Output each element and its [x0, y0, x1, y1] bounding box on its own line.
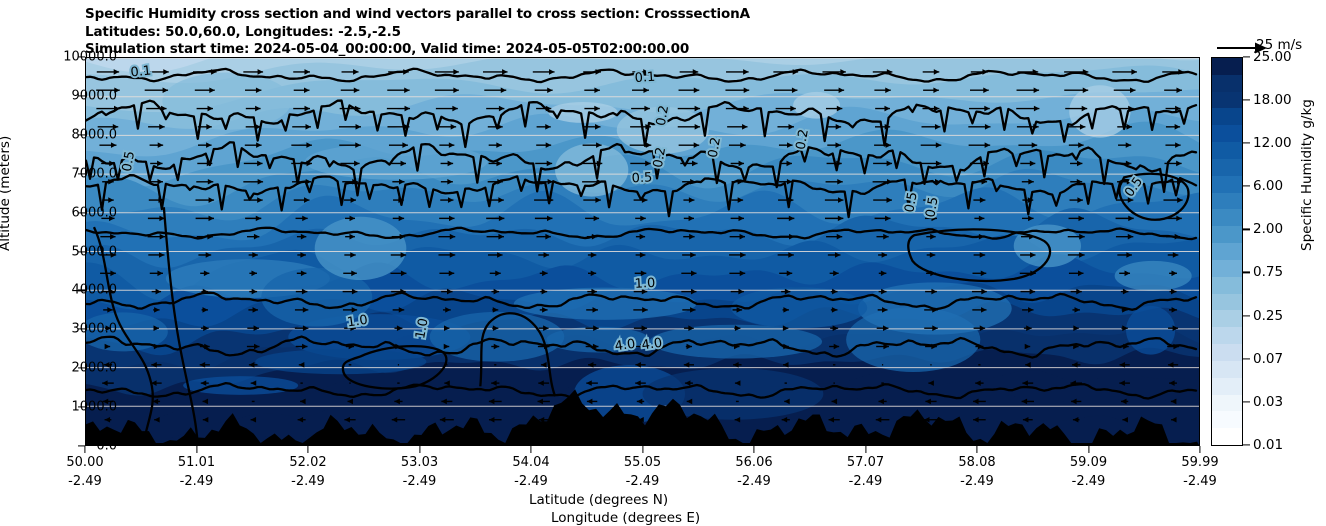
humidity-fill-patch	[514, 288, 697, 320]
y-axis-tick-mark	[78, 134, 85, 135]
colorbar-tick-label: 0.75	[1253, 264, 1283, 280]
humidity-fill-patch	[555, 143, 628, 196]
x-axis-tick-label-latitude: 57.07	[847, 455, 884, 470]
y-axis-tick-label: 0.0	[96, 439, 117, 454]
colorbar-tick-label: 0.03	[1253, 394, 1283, 410]
x-axis-tick-label-longitude: -2.49	[291, 474, 325, 489]
colorbar-tick-mark	[1243, 142, 1250, 143]
x-axis-tick-mark	[976, 446, 977, 453]
chart-title-block: Specific Humidity cross section and wind…	[85, 6, 1205, 59]
y-axis-tick-mark	[78, 173, 85, 174]
colorbar-band	[1212, 377, 1242, 394]
svg-text:4.0: 4.0	[614, 337, 637, 355]
colorbar-tick-label: 18.00	[1253, 92, 1292, 108]
x-axis-tick-label-latitude: 59.99	[1181, 455, 1218, 470]
colorbar-band	[1212, 108, 1242, 125]
x-axis-tick-label-latitude: 53.03	[401, 455, 438, 470]
colorbar-tick-mark	[1243, 358, 1250, 359]
x-axis-tick-mark	[530, 446, 531, 453]
colorbar-band	[1212, 343, 1242, 360]
y-axis-tick-mark	[78, 95, 85, 96]
colorbar-band	[1212, 243, 1242, 260]
x-axis-tick-mark	[307, 446, 308, 453]
x-axis-tick-label-latitude: 56.06	[735, 455, 772, 470]
colorbar-band	[1212, 310, 1242, 327]
plot-canvas: 0.10.10.10.10.20.20.20.20.20.20.20.20.50…	[86, 58, 1199, 445]
colorbar-band	[1212, 175, 1242, 192]
contour-label: 4.04.0	[614, 337, 637, 355]
y-axis-tick-label: 10000.0	[63, 50, 117, 65]
colorbar-tick-mark	[1243, 229, 1250, 230]
y-axis-tick-mark	[78, 368, 85, 369]
humidity-fill-patch	[1126, 306, 1175, 355]
colorbar-tick-mark	[1243, 99, 1250, 100]
title-line-2: Latitudes: 50.0,60.0, Longitudes: -2.5,-…	[85, 24, 1205, 42]
x-axis-tick-label-longitude: -2.49	[1072, 474, 1106, 489]
x-axis-tick-mark	[196, 446, 197, 453]
x-axis-tick-label-latitude: 55.05	[624, 455, 661, 470]
x-axis-tick-label-longitude: -2.49	[68, 474, 102, 489]
y-axis-tick-mark	[78, 329, 85, 330]
colorbar-band	[1212, 192, 1242, 209]
colorbar-tick-label: 0.25	[1253, 308, 1283, 324]
contour-label: 4.04.0	[641, 336, 664, 354]
colorbar-tick-label: 0.01	[1253, 437, 1283, 453]
colorbar-band	[1212, 158, 1242, 175]
x-axis-tick-label-latitude: 59.09	[1070, 455, 1107, 470]
cross-section-plot: 0.10.10.10.10.20.20.20.20.20.20.20.20.50…	[85, 57, 1200, 446]
x-axis-tick-label-latitude: 52.02	[289, 455, 326, 470]
humidity-fill-patch	[1115, 261, 1192, 291]
colorbar-band	[1212, 293, 1242, 310]
y-axis-tick-mark	[78, 56, 85, 57]
title-line-3: Simulation start time: 2024-05-04_00:00:…	[85, 41, 1205, 59]
x-axis-tick-label-longitude: -2.49	[737, 474, 771, 489]
colorbar	[1211, 57, 1243, 446]
contour-label: 0.10.1	[130, 63, 152, 80]
colorbar-tick-label: 6.00	[1253, 178, 1283, 194]
x-axis-label-latitude: Latitude (degrees N)	[529, 492, 668, 508]
x-axis-tick-label-latitude: 58.08	[958, 455, 995, 470]
humidity-fill-patch	[255, 349, 426, 374]
x-axis-tick-label-longitude: -2.49	[849, 474, 883, 489]
contour-label: 1.01.0	[346, 313, 369, 331]
colorbar-band	[1212, 142, 1242, 159]
colorbar-band	[1212, 74, 1242, 91]
colorbar-title: Specific Humidity g/kg	[1299, 99, 1315, 251]
colorbar-tick-label: 2.00	[1253, 221, 1283, 237]
x-axis-tick-label-longitude: -2.49	[514, 474, 548, 489]
x-axis-tick-label-latitude: 51.01	[178, 455, 215, 470]
x-axis-tick-label-longitude: -2.49	[403, 474, 437, 489]
colorbar-tick-mark	[1243, 272, 1250, 273]
contour-label: 1.01.0	[634, 276, 655, 292]
colorbar-band	[1212, 91, 1242, 108]
svg-text:0.1: 0.1	[634, 70, 656, 86]
title-line-1: Specific Humidity cross section and wind…	[85, 6, 1205, 24]
x-axis-tick-label-latitude: 54.04	[512, 455, 549, 470]
colorbar-band	[1212, 125, 1242, 142]
colorbar-tick-mark	[1243, 315, 1250, 316]
x-axis-tick-mark	[642, 446, 643, 453]
y-axis-tick-mark	[78, 251, 85, 252]
colorbar-band	[1212, 411, 1242, 428]
colorbar-tick-mark	[1243, 444, 1250, 445]
colorbar-tick-mark	[1243, 186, 1250, 187]
svg-text:0.5: 0.5	[631, 170, 652, 186]
humidity-fill-patch	[315, 217, 407, 280]
x-axis-tick-label-longitude: -2.49	[180, 474, 214, 489]
x-axis-tick-label-latitude: 50.00	[66, 455, 103, 470]
x-axis-tick-mark	[419, 446, 420, 453]
humidity-fill-patch	[162, 73, 291, 130]
colorbar-band	[1212, 428, 1242, 445]
colorbar-band	[1212, 327, 1242, 344]
colorbar-tick-label: 0.07	[1253, 351, 1283, 367]
colorbar-band	[1212, 209, 1242, 226]
contour-label: 0.10.1	[634, 70, 656, 86]
x-axis-tick-label-longitude: -2.49	[1183, 474, 1217, 489]
y-axis-label: Altitude (meters)	[0, 136, 13, 251]
colorbar-band	[1212, 276, 1242, 293]
colorbar-tick-mark	[1243, 56, 1250, 57]
y-axis-tick-mark	[78, 290, 85, 291]
x-axis-tick-label-longitude: -2.49	[960, 474, 994, 489]
x-axis-tick-mark	[1088, 446, 1089, 453]
svg-text:4.0: 4.0	[641, 336, 664, 354]
svg-text:1.0: 1.0	[634, 276, 655, 292]
y-axis-tick-mark	[78, 212, 85, 213]
x-axis-tick-label-longitude: -2.49	[626, 474, 660, 489]
contour-label: 0.50.5	[631, 170, 652, 186]
colorbar-band	[1212, 226, 1242, 243]
x-axis-tick-mark	[753, 446, 754, 453]
svg-text:0.1: 0.1	[130, 63, 152, 80]
colorbar-tick-label: 25.00	[1253, 49, 1292, 65]
colorbar-band	[1212, 360, 1242, 377]
x-axis-tick-mark	[1199, 446, 1200, 453]
colorbar-tick-label: 12.00	[1253, 135, 1292, 151]
x-axis-label-longitude: Longitude (degrees E)	[551, 510, 700, 526]
humidity-fill-patch	[183, 376, 298, 395]
colorbar-band	[1212, 394, 1242, 411]
svg-text:1.0: 1.0	[346, 313, 369, 331]
x-axis-tick-mark	[84, 446, 85, 453]
y-axis-tick-mark	[78, 407, 85, 408]
colorbar-tick-mark	[1243, 401, 1250, 402]
x-axis-tick-mark	[865, 446, 866, 453]
colorbar-band	[1212, 57, 1242, 74]
colorbar-band	[1212, 259, 1242, 276]
